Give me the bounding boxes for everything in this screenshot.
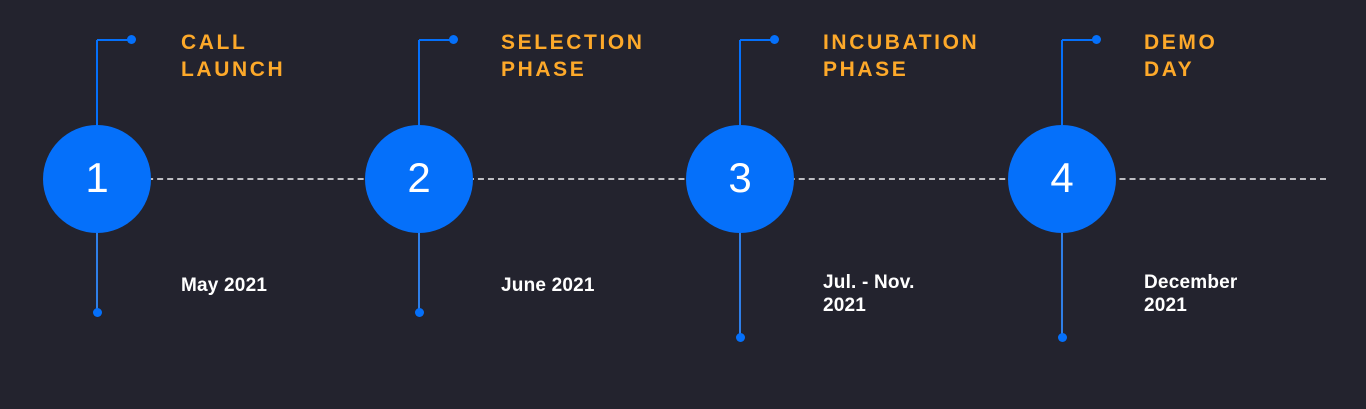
milestone-1-bottom-connector-stem [96,225,98,312]
milestone-2-top-connector-arm [419,39,453,41]
milestone-3-number: 3 [728,157,751,199]
milestone-4-marker-circle[interactable]: 4 [1008,125,1116,233]
milestone-3-heading: INCUBATION PHASE [823,29,979,83]
milestone-2-date-label: June 2021 [501,274,595,297]
milestone-2-marker-circle[interactable]: 2 [365,125,473,233]
milestone-4-number: 4 [1050,157,1073,199]
timeline-graphic: 1CALL LAUNCHMay 20212SELECTION PHASEJune… [0,0,1366,409]
milestone-3-date-label: Jul. - Nov. 2021 [823,271,915,317]
milestone-3-bottom-connector-dot [736,333,745,342]
milestone-4-date-label: December 2021 [1144,271,1237,317]
milestone-2-top-connector-dot [449,35,458,44]
milestone-4-top-connector-arm [1062,39,1096,41]
milestone-2-number: 2 [407,157,430,199]
milestone-3-marker-circle[interactable]: 3 [686,125,794,233]
milestone-3-top-connector-dot [770,35,779,44]
milestone-1-bottom-connector-dot [93,308,102,317]
milestone-1-top-connector-arm [97,39,131,41]
milestone-3-top-connector-stem [739,40,741,135]
milestone-1-top-connector-dot [127,35,136,44]
milestone-1-marker-circle[interactable]: 1 [43,125,151,233]
milestone-4-bottom-connector-stem [1061,225,1063,337]
milestone-3-bottom-connector-stem [739,225,741,337]
milestone-4-top-connector-stem [1061,40,1063,135]
milestone-2-bottom-connector-stem [418,225,420,312]
milestone-2-top-connector-stem [418,40,420,135]
milestone-1-top-connector-stem [96,40,98,135]
milestone-1-date-label: May 2021 [181,274,267,297]
milestone-3-top-connector-arm [740,39,774,41]
milestone-1-heading: CALL LAUNCH [181,29,285,83]
milestone-2-bottom-connector-dot [415,308,424,317]
milestone-4-bottom-connector-dot [1058,333,1067,342]
milestone-2-heading: SELECTION PHASE [501,29,645,83]
milestone-4-top-connector-dot [1092,35,1101,44]
milestone-1-number: 1 [85,157,108,199]
milestone-4-heading: DEMO DAY [1144,29,1217,83]
